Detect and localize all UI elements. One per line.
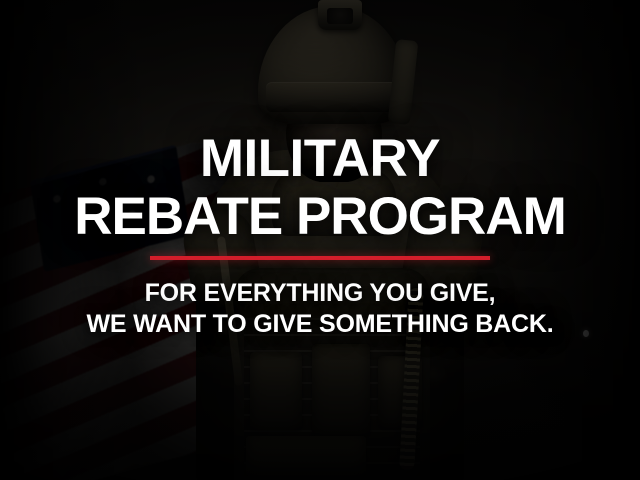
subheadline-line-2: WE WANT TO GIVE SOMETHING BACK. [87, 309, 554, 340]
page-title: MILITARY REBATE PROGRAM [74, 0, 565, 244]
headline-line-2: REBATE PROGRAM [74, 190, 565, 244]
headline-line-1: MILITARY [74, 132, 565, 186]
red-accent-rule [150, 256, 490, 260]
subheadline-line-1: FOR EVERYTHING YOU GIVE, [87, 278, 554, 309]
poster-content: MILITARY REBATE PROGRAM FOR EVERYTHING Y… [0, 0, 640, 480]
military-rebate-poster: MILITARY REBATE PROGRAM FOR EVERYTHING Y… [0, 0, 640, 480]
subheadline: FOR EVERYTHING YOU GIVE, WE WANT TO GIVE… [87, 278, 554, 340]
